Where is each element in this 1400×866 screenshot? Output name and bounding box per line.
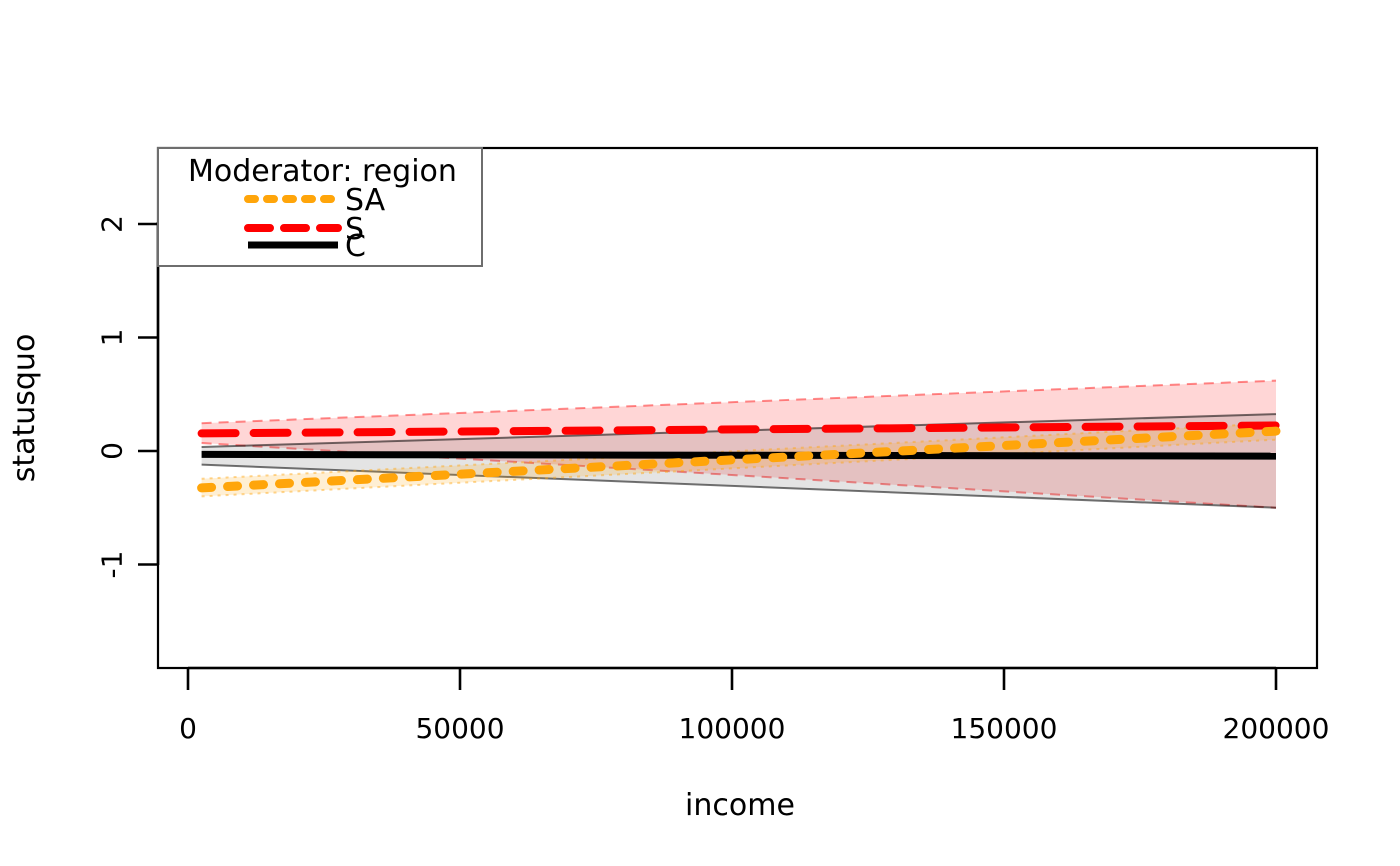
- line-series-2: [202, 454, 1276, 456]
- x-tick-label: 0: [179, 712, 197, 745]
- x-tick-label: 100000: [679, 712, 786, 745]
- y-tick-label: 1: [96, 329, 129, 347]
- x-tick-label: 50000: [415, 712, 504, 745]
- legend: Moderator: region SASC: [158, 148, 482, 266]
- plot-root: -1012 statusquo 050000100000150000200000…: [0, 0, 1400, 866]
- legend-title: Moderator: region: [188, 154, 457, 189]
- x-axis-title: income: [685, 788, 795, 823]
- x-tick-label: 200000: [1223, 712, 1330, 745]
- legend-label-c: C: [345, 229, 366, 264]
- y-tick-label: 0: [96, 442, 129, 460]
- y-axis-title: statusquo: [7, 334, 42, 483]
- regression-plot: -1012 statusquo 050000100000150000200000…: [0, 0, 1400, 866]
- y-tick-label: 2: [96, 215, 129, 233]
- x-tick-label: 150000: [951, 712, 1058, 745]
- y-tick-label: -1: [96, 551, 129, 579]
